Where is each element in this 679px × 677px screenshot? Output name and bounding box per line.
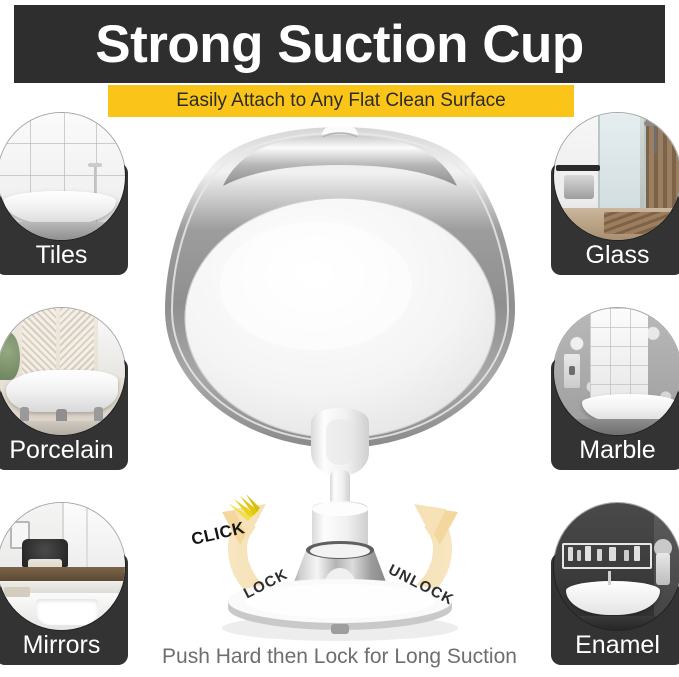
feature-tiles[interactable]: Tiles [0,113,128,275]
click-spark-icon [228,494,260,521]
feature-label-tiles: Tiles [0,243,128,268]
feature-glass[interactable]: Glass [551,113,679,275]
mirrors-photo [0,503,125,630]
lock-label: LOCK [241,566,291,603]
feature-label-marble: Marble [551,438,679,463]
feature-porcelain[interactable]: Porcelain [0,308,128,470]
mirror-head [165,124,515,448]
subtitle-bar: Easily Attach to Any Flat Clean Surface [108,85,574,117]
porcelain-photo [0,308,125,435]
stem [330,470,350,510]
swivel-joint [311,408,369,476]
feature-marble[interactable]: Marble [551,308,679,470]
enamel-photo [554,503,679,630]
product-shadow [222,615,458,641]
tiles-photo [0,113,125,240]
feature-label-glass: Glass [551,243,679,268]
feature-enamel[interactable]: Enamel [551,503,679,665]
click-label: CLICK [189,518,247,550]
title-banner: Strong Suction Cup [14,5,665,83]
upper-cylinder [312,501,368,550]
feature-mirrors[interactable]: Mirrors [0,503,128,665]
unlock-label: UNLOCK [385,561,456,609]
marble-photo [554,308,679,435]
feature-label-porcelain: Porcelain [0,438,128,463]
subtitle-text: Easily Attach to Any Flat Clean Surface [176,90,506,112]
bottom-caption: Push Hard then Lock for Long Suction [0,645,679,669]
lock-collar [288,541,392,598]
page-title: Strong Suction Cup [95,18,584,71]
rotation-band [222,504,458,624]
glass-photo [554,113,679,240]
suction-base [228,579,452,634]
mirror-face [185,198,495,438]
